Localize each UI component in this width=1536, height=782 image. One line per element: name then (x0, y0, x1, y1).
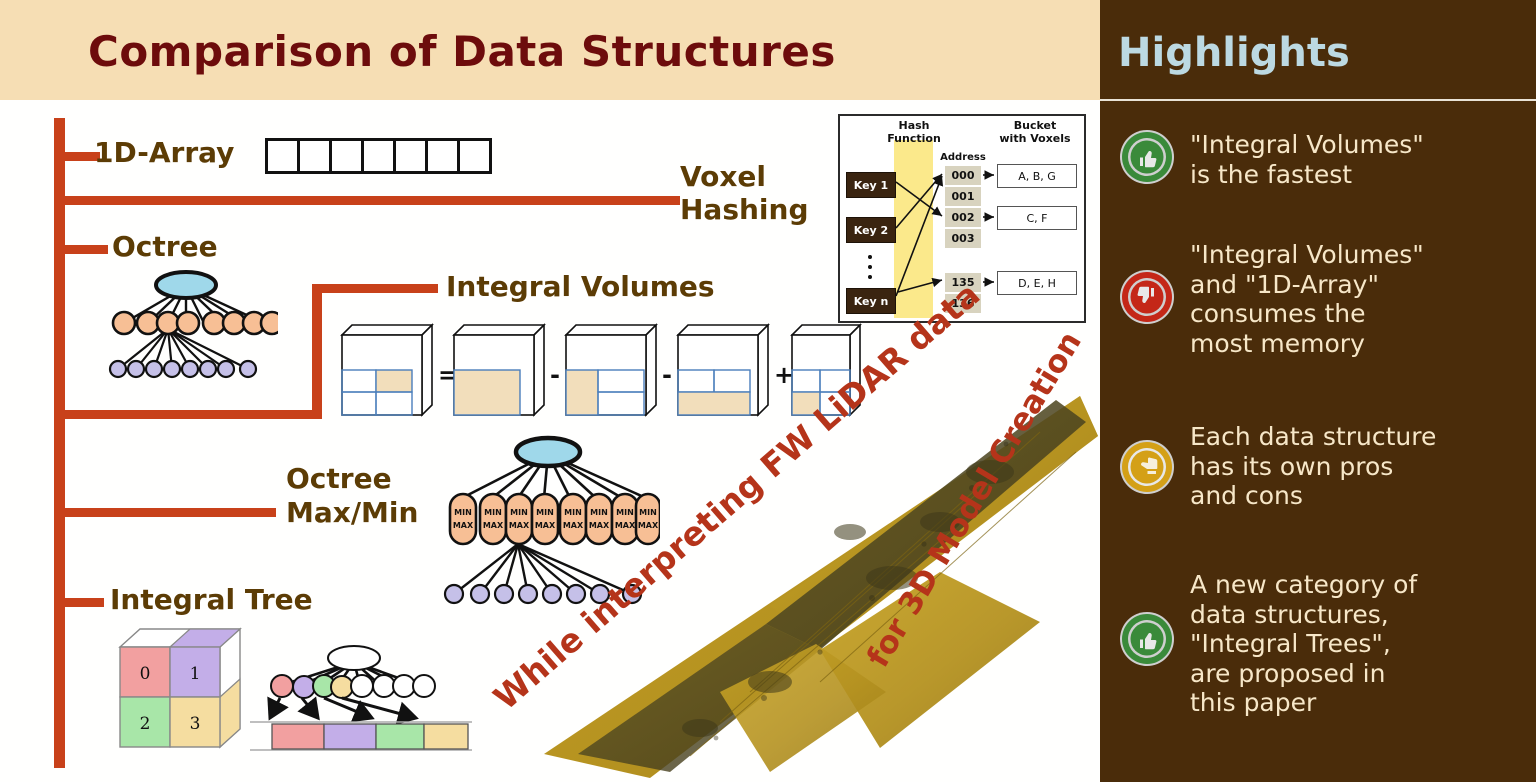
connector-branch-integral-volumes-v (312, 284, 322, 418)
diagram-canvas: 1D-Array Octree Voxel Hashing Integral V… (0, 100, 1100, 782)
svg-text:MIN: MIN (484, 508, 502, 517)
connector-branch-octree (60, 245, 108, 254)
highlight-text: Each data structure has its own pros and… (1190, 420, 1436, 511)
thumbs-down-icon (1118, 268, 1176, 326)
highlight-item-3: Each data structure has its own pros and… (1118, 420, 1522, 511)
highlight-text: "Integral Volumes" is the fastest (1190, 128, 1424, 189)
array-cell (300, 141, 332, 171)
connector-branch-integral-volumes-base (60, 410, 322, 419)
thumbs-up-icon (1118, 610, 1176, 668)
thumbs-up-icon (1118, 128, 1176, 186)
array-cell (428, 141, 460, 171)
svg-text:+: + (774, 361, 794, 389)
label-integral-tree: Integral Tree (110, 583, 313, 616)
svg-text:MAX: MAX (453, 521, 474, 530)
connector-branch-octree-maxmin (60, 508, 276, 517)
one-d-array-cells (265, 138, 492, 174)
connector-branch-integral-tree (60, 598, 104, 607)
highlight-item-2: "Integral Volumes" and "1D-Array" consum… (1118, 238, 1522, 358)
connector-trunk (54, 118, 65, 768)
connector-branch-voxel-hashing (60, 196, 680, 205)
connector-branch-integral-volumes-h (312, 284, 438, 293)
svg-text:3: 3 (190, 714, 201, 734)
label-1d-array: 1D-Array (94, 136, 234, 169)
svg-text:-: - (662, 361, 672, 389)
header-divider (1100, 99, 1536, 101)
array-cell (364, 141, 396, 171)
svg-text:2: 2 (140, 714, 151, 734)
label-voxel-hashing: Voxel Hashing (680, 160, 809, 226)
integral-tree-mapping (250, 640, 480, 760)
svg-text:1: 1 (190, 664, 201, 684)
integral-tree-cube: 01 23 (112, 623, 252, 758)
svg-text:0: 0 (140, 664, 151, 684)
label-integral-volumes: Integral Volumes (446, 270, 715, 303)
svg-text:-: - (550, 361, 560, 389)
array-cell (396, 141, 428, 171)
highlight-item-4: A new category of data structures, "Inte… (1118, 568, 1522, 718)
array-cell (268, 141, 300, 171)
svg-text:MAX: MAX (483, 521, 504, 530)
page-title: Comparison of Data Structures (88, 27, 836, 76)
highlight-text: A new category of data structures, "Inte… (1190, 568, 1417, 718)
graphical-abstract: Comparison of Data Structures Highlights… (0, 0, 1536, 782)
highlights-title: Highlights (1118, 30, 1350, 76)
highlight-item-1: "Integral Volumes" is the fastest (1118, 128, 1522, 189)
label-octree-max-min: Octree Max/Min (286, 462, 418, 529)
octree-diagram (98, 265, 278, 385)
thumbs-sideways-icon (1118, 438, 1176, 496)
svg-text:MIN: MIN (454, 508, 472, 517)
highlight-text: "Integral Volumes" and "1D-Array" consum… (1190, 238, 1424, 358)
array-cell (460, 141, 489, 171)
array-cell (332, 141, 364, 171)
label-octree: Octree (112, 230, 218, 263)
